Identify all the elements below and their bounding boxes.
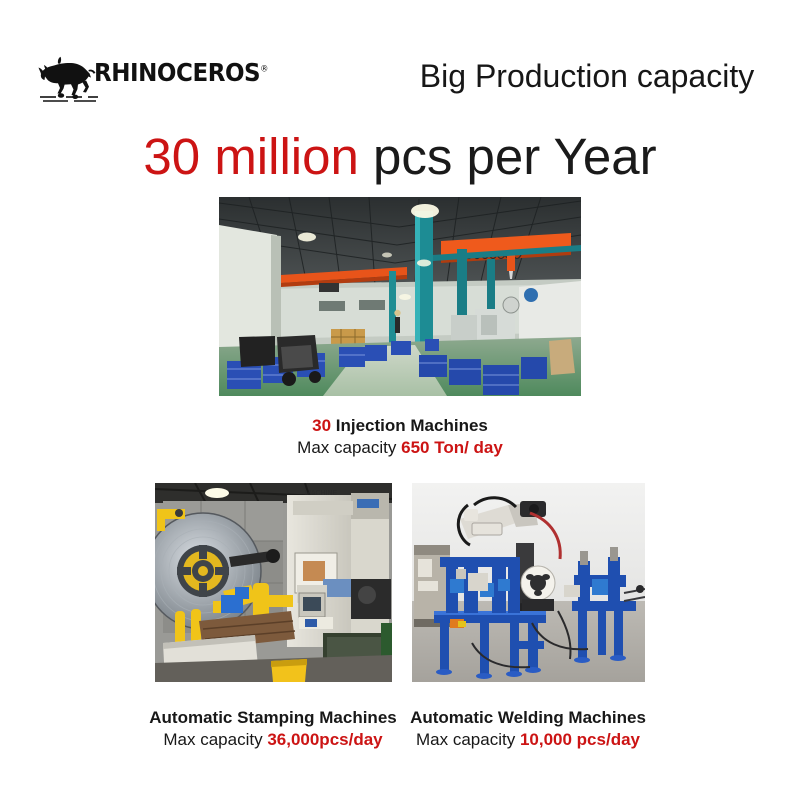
automatic-welding-machine-photo	[412, 483, 645, 682]
automatic-stamping-machine-photo: MACHINE	[155, 483, 392, 682]
brand-logo: RHINOCEROS®	[38, 52, 238, 108]
caption-injection-value: 650 Ton/ day	[401, 438, 503, 457]
caption-stamping-line1: Automatic Stamping Machines	[135, 707, 411, 729]
caption-injection-count: 30	[312, 416, 331, 435]
page-headline: Big Production capacity	[392, 58, 782, 95]
registered-trademark-icon: ®	[260, 65, 268, 75]
brand-wordmark: RHINOCEROS®	[94, 60, 268, 85]
caption-stamping-value: 36,000pcs/day	[267, 730, 382, 749]
caption-stamping: Automatic Stamping Machines Max capacity…	[135, 707, 411, 751]
rhinoceros-silhouette-icon	[38, 52, 100, 104]
caption-welding-value: 10,000 pcs/day	[520, 730, 640, 749]
caption-welding-line2: Max capacity 10,000 pcs/day	[393, 729, 663, 751]
caption-welding: Automatic Welding Machines Max capacity …	[393, 707, 663, 751]
factory-interior-photo	[219, 197, 581, 396]
stat-number: 30 million	[143, 128, 358, 185]
caption-stamping-prefix: Max capacity	[163, 730, 267, 749]
caption-injection-line2: Max capacity 650 Ton/ day	[200, 437, 600, 459]
stat-unit: pcs per Year	[359, 128, 657, 185]
page-header: RHINOCEROS® Big Production capacity	[0, 0, 800, 118]
svg-text:MACHINE: MACHINE	[305, 490, 338, 497]
brand-wordmark-text: RHINOCEROS	[94, 58, 260, 87]
caption-injection-label: Injection Machines	[331, 416, 488, 435]
production-capacity-stat: 30 million pcs per Year	[0, 126, 800, 188]
caption-welding-prefix: Max capacity	[416, 730, 520, 749]
caption-injection-line1: 30 Injection Machines	[200, 415, 600, 437]
caption-stamping-line2: Max capacity 36,000pcs/day	[135, 729, 411, 751]
caption-injection: 30 Injection Machines Max capacity 650 T…	[200, 415, 600, 459]
caption-injection-prefix: Max capacity	[297, 438, 401, 457]
caption-welding-line1: Automatic Welding Machines	[393, 707, 663, 729]
